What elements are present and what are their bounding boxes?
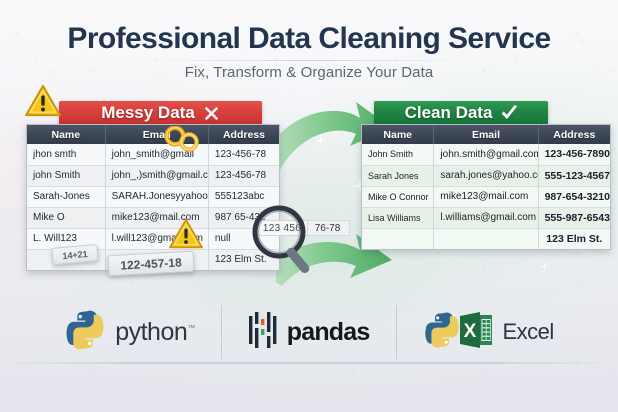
messy-banner-label: Messy Data	[101, 103, 195, 123]
clean-banner-label: Clean Data	[405, 103, 493, 123]
warning-triangle-icon	[24, 84, 62, 118]
check-icon	[500, 105, 517, 122]
infographic-canvas: Professional Data Cleaning Service Fix, …	[0, 0, 618, 412]
column-header-address: Address	[538, 125, 610, 144]
logo-pandas: pandas	[221, 305, 396, 359]
pandas-label: pandas	[287, 318, 370, 347]
cell-email: l.williams@gmail.com	[434, 207, 538, 228]
cell-address: 987-654-3210	[538, 186, 610, 207]
technology-logos: python™ pandas	[0, 300, 618, 364]
cell-name: John Smith	[362, 144, 434, 165]
cell-email: sarah.jones@yahoo.com	[434, 165, 538, 186]
cell-email: SARAH.Jonesyyahoo.com	[105, 186, 208, 207]
page-title: Professional Data Cleaning Service	[0, 22, 618, 56]
table-row: Mike O Connormike123@mail.com987-654-321…	[362, 186, 610, 207]
cell-name: Lisa Williams	[362, 207, 434, 228]
cell-address: 123-456-78	[208, 165, 279, 186]
cell-name: Sarah-Jones	[27, 186, 105, 207]
pandas-logo-icon	[248, 310, 278, 355]
cell-address: 555123abc	[208, 186, 279, 207]
logo-python-excel: X Excel	[396, 305, 580, 359]
magnifier-icon	[247, 205, 331, 279]
cell-name	[362, 228, 434, 249]
table-row: Mike Omike123@mail.com987 65-432	[27, 207, 279, 228]
column-header-name: Name	[27, 125, 105, 144]
python-logo-icon	[423, 311, 461, 354]
cell-name: Mike O Connor	[362, 186, 434, 207]
table-row: jhon smthjohn_smith@gmail123-456-78	[27, 144, 279, 165]
cell-address: 555-123-4567	[538, 165, 610, 186]
cell-name: john Smith	[27, 165, 105, 186]
table-row: Lisa Williamsl.williams@gmail.com555-987…	[362, 207, 610, 228]
cell-address: 123-456-7890	[538, 144, 610, 165]
chain-rings-icon	[162, 126, 204, 152]
sparkle-icon	[540, 258, 549, 276]
table-row: Sarah Jonessarah.jones@yahoo.com555-123-…	[362, 165, 610, 186]
cell-address: 123-456-78	[208, 144, 279, 165]
cell-email: john.smith@gmail.com	[434, 144, 538, 165]
table-row: Sarah-JonesSARAH.Jonesyyahoo.com555123ab…	[27, 186, 279, 207]
column-header-email: Email	[434, 125, 538, 144]
clean-data-table: Name Email Address John Smithjohn.smith@…	[361, 124, 611, 250]
excel-logo-icon: X	[458, 310, 494, 355]
cell-name: jhon smth	[27, 144, 105, 165]
messy-data-banner: Messy Data	[59, 101, 262, 125]
cell-email: mike123@mail.com	[434, 186, 538, 207]
logo-python: python™	[38, 305, 221, 359]
column-header-name: Name	[362, 125, 434, 144]
excel-label: Excel	[503, 319, 554, 345]
table-row: John Smithjohn.smith@gmail.com123-456-78…	[362, 144, 610, 165]
floating-note-phone: 122-457-18	[108, 251, 195, 276]
cross-icon	[203, 105, 220, 122]
title-divider	[150, 60, 468, 61]
python-logo-icon	[64, 309, 106, 356]
table-row: john Smithjohn_,)smith@gmail.com123-456-…	[27, 165, 279, 186]
page-subtitle: Fix, Transform & Organize Your Data	[0, 64, 618, 81]
cell-name: Mike O	[27, 207, 105, 228]
clean-data-banner: Clean Data	[374, 101, 548, 125]
python-label: python™	[115, 318, 195, 347]
cell-address: 555-987-6543	[538, 207, 610, 228]
cell-email: john_,)smith@gmail.com	[105, 165, 208, 186]
table-row: 123 Elm St.	[362, 228, 610, 249]
cell-email	[434, 228, 538, 249]
warning-triangle-icon	[168, 218, 204, 250]
cell-name: Sarah Jones	[362, 165, 434, 186]
cell-address: 123 Elm St.	[538, 228, 610, 249]
table-header-row: Name Email Address	[362, 125, 610, 144]
table-header-row: Name Email Address	[27, 125, 279, 144]
column-header-address: Address	[208, 125, 279, 144]
svg-text:X: X	[463, 321, 476, 342]
python-trademark: ™	[187, 323, 195, 332]
